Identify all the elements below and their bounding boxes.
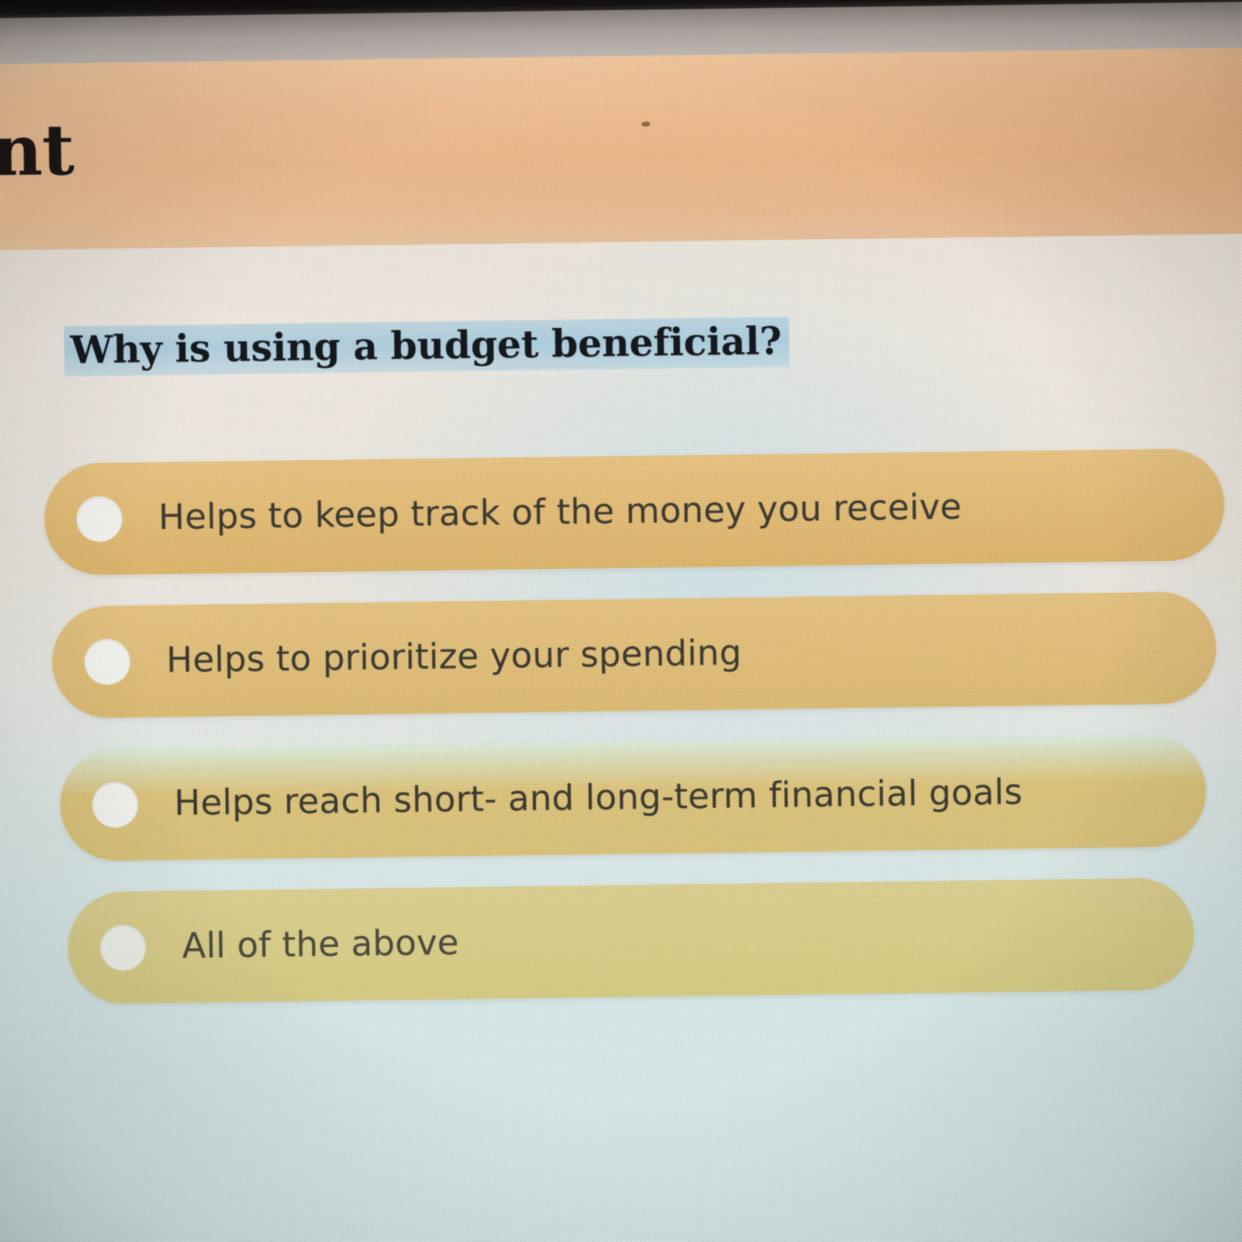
radio-unselected-icon[interactable] (92, 781, 139, 828)
question-highlight: Why is using a budget beneficial? (64, 317, 790, 376)
answer-option-4[interactable]: All of the above (67, 878, 1194, 1005)
answer-options-list: Helps to keep track of the money you rec… (0, 447, 1242, 1036)
screen-photo: ent Why is using a budget beneficial? He… (0, 0, 1242, 1242)
screen-surface: ent Why is using a budget beneficial? He… (0, 0, 1242, 1242)
answer-option-3-label: Helps reach short- and long-term financi… (174, 774, 1023, 824)
page-title-partial: ent (0, 115, 74, 187)
question-text: Why is using a budget beneficial? (70, 318, 782, 372)
radio-unselected-icon[interactable] (84, 638, 131, 685)
answer-option-2-label: Helps to prioritize your spending (166, 634, 742, 680)
page-banner (0, 47, 1242, 254)
answer-option-1[interactable]: Helps to keep track of the money you rec… (44, 448, 1225, 575)
answer-option-2[interactable]: Helps to prioritize your spending (52, 591, 1217, 718)
answer-option-4-label: All of the above (182, 924, 459, 966)
answer-option-3[interactable]: Helps reach short- and long-term financi… (59, 734, 1206, 861)
radio-unselected-icon[interactable] (100, 924, 147, 971)
question-block: Why is using a budget beneficial? (64, 317, 765, 376)
radio-unselected-icon[interactable] (76, 496, 123, 543)
answer-option-1-label: Helps to keep track of the money you rec… (158, 488, 962, 537)
